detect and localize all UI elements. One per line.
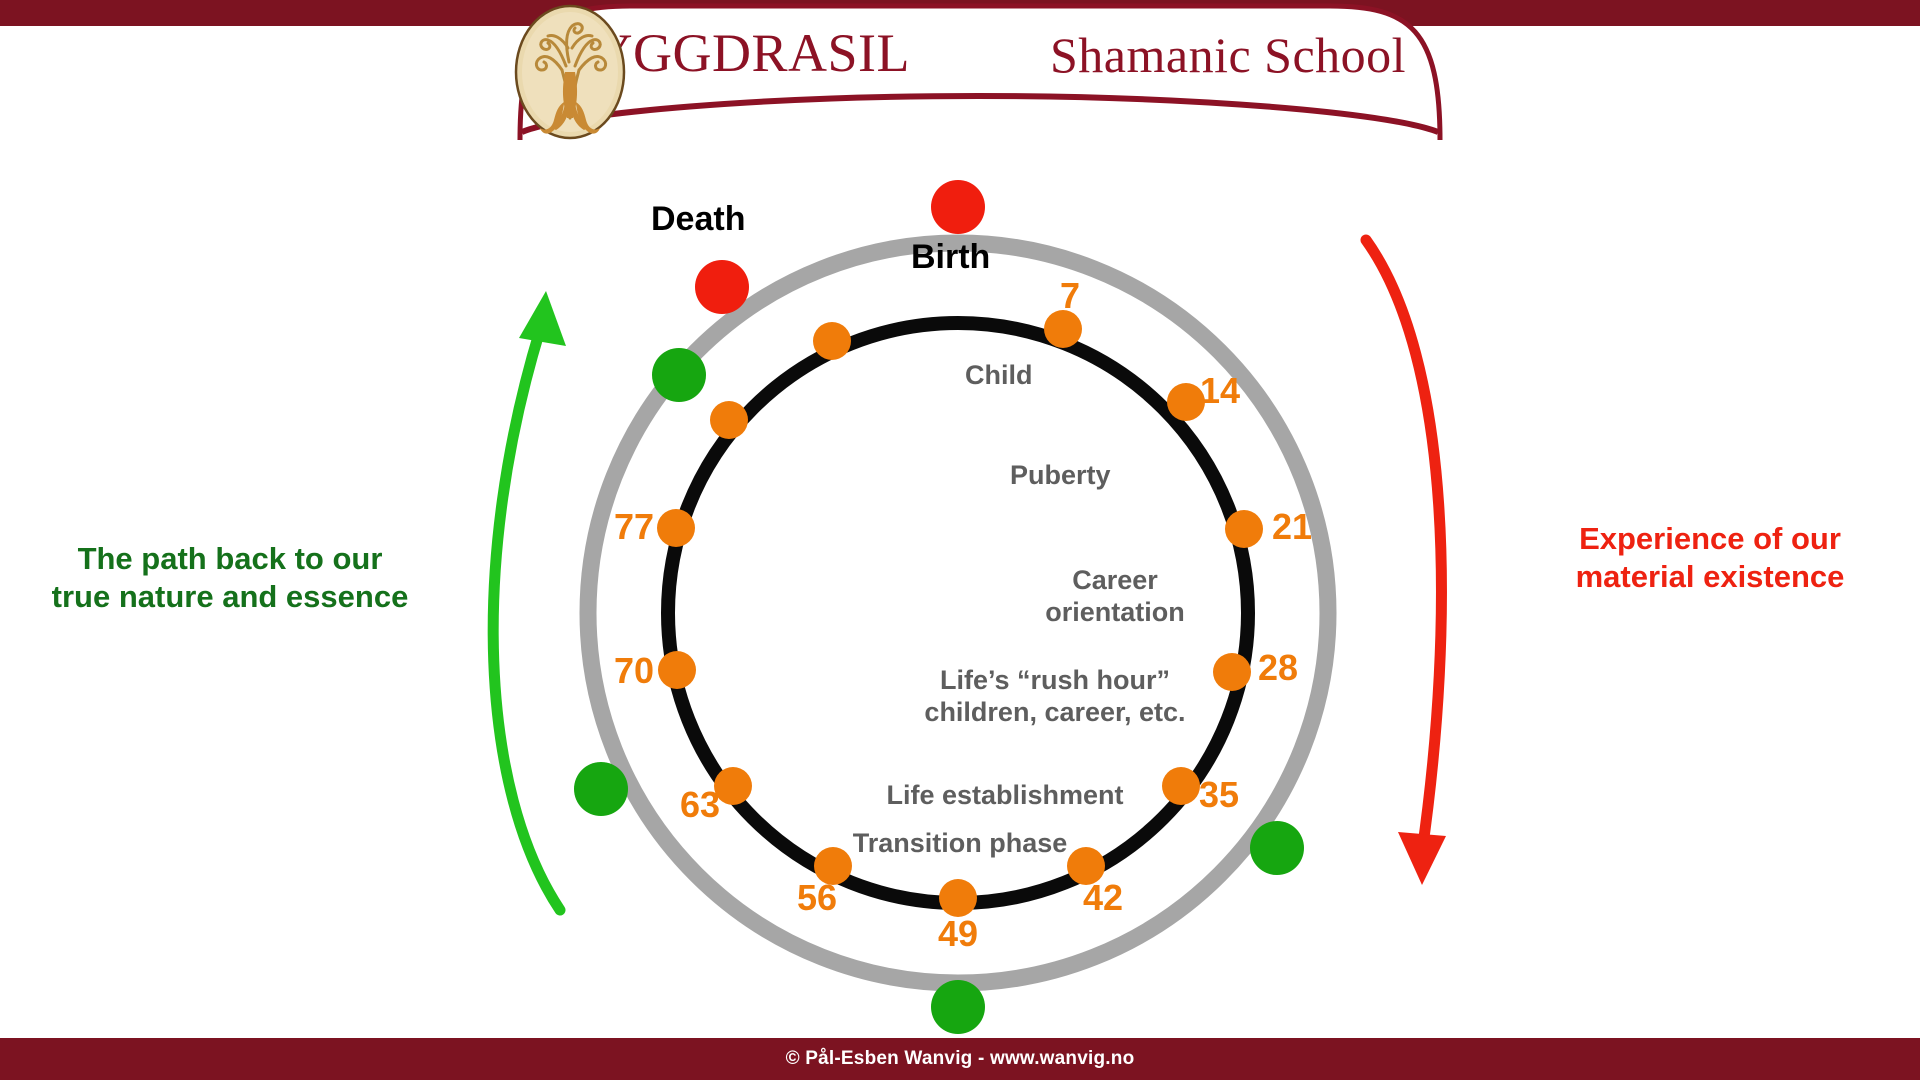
return-ascent-arrow-icon [493,291,566,910]
birth-dot [931,180,985,234]
age-label-7: 7 [1060,275,1080,317]
age-label-70: 70 [614,650,654,692]
age-label-77: 77 [614,506,654,548]
gate-dot-upper-left [652,348,706,402]
gate-dot-lower-left [574,762,628,816]
stage-label-transition-phase: Transition phase [820,828,1100,860]
age-dot-21 [1225,510,1263,548]
age-label-63: 63 [680,784,720,826]
age-label-56: 56 [797,877,837,919]
gate-dot-bottom [931,980,985,1034]
gate-dot-lower-right [1250,821,1304,875]
footer-copyright: © Pål-Esben Wanvig - www.wanvig.no [786,1048,1135,1070]
tree-of-life-medallion-icon [510,0,630,145]
stage-label-life-establishment: Life establishment [860,780,1150,812]
logo-banner: YGGDRASIL Shamanic School [510,0,1450,140]
age-label-42: 42 [1083,877,1123,919]
brand-name-school: Shamanic School [1050,26,1406,84]
age-label-28: 28 [1258,647,1298,689]
age-dot-77 [657,509,695,547]
age-dot-49 [939,879,977,917]
age-label-21: 21 [1272,506,1312,548]
age-dot-35 [1162,767,1200,805]
age-dot-70 [658,651,696,689]
footer-bar: © Pål-Esben Wanvig - www.wanvig.no [0,1038,1920,1080]
death-dot [695,260,749,314]
stage-label-career-orientation: Career orientation [1015,565,1215,629]
age-label-35: 35 [1199,774,1239,816]
age-label-49: 49 [938,913,978,955]
birth-label: Birth [911,238,990,277]
age-dot-0 [813,322,851,360]
stage-label-child: Child [965,360,1125,392]
note-material-experience: Experience of our material existence [1500,520,1920,596]
age-label-14: 14 [1200,370,1240,412]
age-dot-84 [710,401,748,439]
note-path-back: The path back to our true nature and ess… [30,540,430,616]
stage-label-puberty: Puberty [1010,460,1190,492]
outer-ring-gray [588,243,1328,983]
stage-label-rush-hour: Life’s “rush hour” children, career, etc… [890,665,1220,729]
material-descent-arrow-icon [1366,240,1446,885]
death-label: Death [651,200,745,239]
